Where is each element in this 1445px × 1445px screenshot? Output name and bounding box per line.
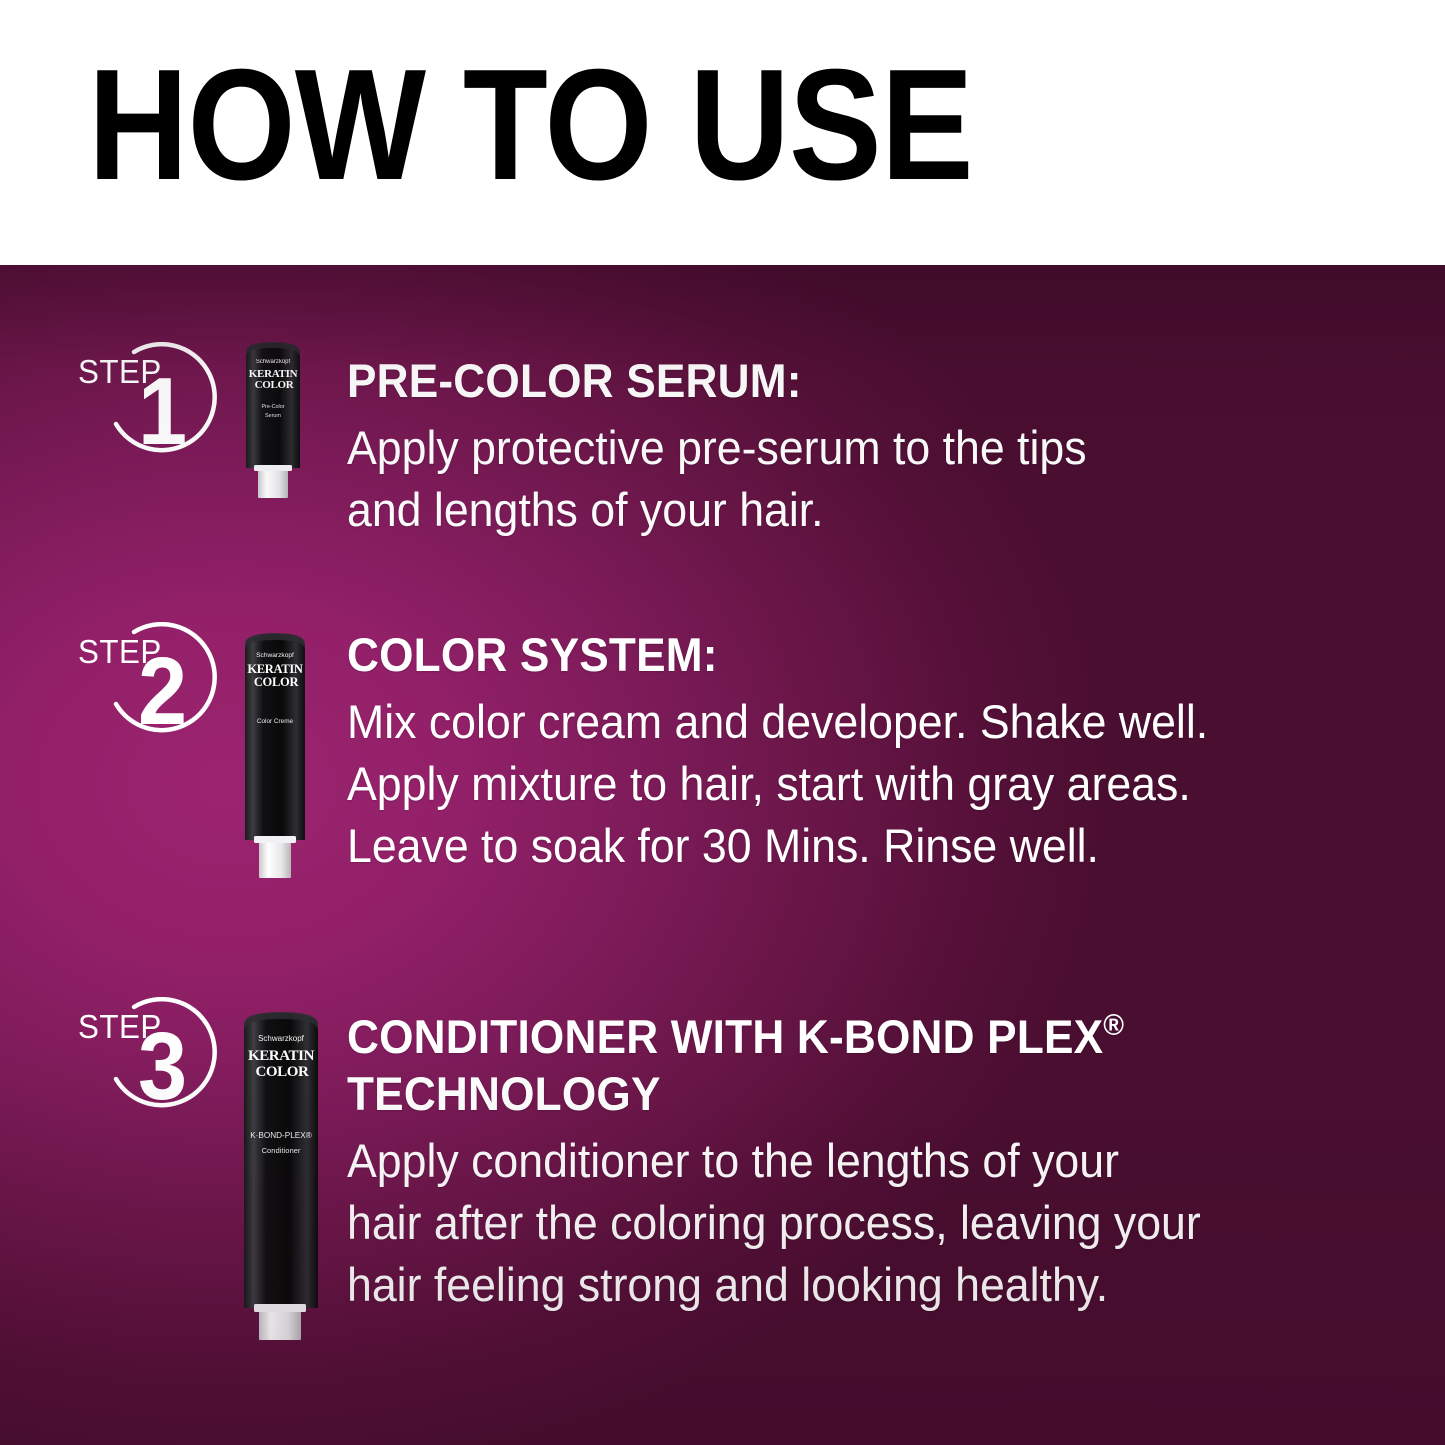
step-body-line: Mix color cream and developer. Shake wel… xyxy=(347,691,1354,753)
svg-text:Color Creme: Color Creme xyxy=(257,718,294,725)
svg-text:Schwarzkopf: Schwarzkopf xyxy=(258,1034,305,1043)
svg-text:Schwarzkopf: Schwarzkopf xyxy=(256,652,294,659)
step-text-2: COLOR SYSTEM: Mix color cream and develo… xyxy=(347,626,1407,877)
step-badge-1: STEP 1 xyxy=(78,340,218,480)
step-heading-2: COLOR SYSTEM: xyxy=(347,626,1343,683)
step-body-1: Apply protective pre-serum to the tips a… xyxy=(347,417,1354,541)
step-badge-2: STEP 2 xyxy=(78,620,218,760)
step-body-line: Apply conditioner to the lengths of your xyxy=(347,1130,1354,1192)
svg-text:KERATIN: KERATIN xyxy=(248,1048,315,1064)
svg-text:COLOR: COLOR xyxy=(254,675,300,689)
step-heading-3-line-2: TECHNOLOGY xyxy=(347,1067,661,1120)
header-band: HOW TO USE xyxy=(0,0,1445,265)
step-body-line: Apply protective pre-serum to the tips xyxy=(347,417,1354,479)
step-body-line: and lengths of your hair. xyxy=(347,479,1354,541)
svg-text:COLOR: COLOR xyxy=(255,1064,309,1080)
step-body-line: Apply mixture to hair, start with gray a… xyxy=(347,753,1354,815)
step-text-1: PRE-COLOR SERUM: Apply protective pre-se… xyxy=(347,352,1407,541)
svg-text:Pre-Color: Pre-Color xyxy=(261,404,284,410)
step-heading-1: PRE-COLOR SERUM: xyxy=(347,352,1343,409)
svg-text:KERATIN: KERATIN xyxy=(247,662,303,676)
how-to-use-graphic: HOW TO USE STEP 1 xyxy=(0,0,1445,1445)
registered-mark-icon: ® xyxy=(1103,1009,1124,1042)
step-body-line: Leave to soak for 30 Mins. Rinse well. xyxy=(347,815,1354,877)
svg-text:Schwarzkopf: Schwarzkopf xyxy=(256,359,291,365)
svg-text:Conditioner: Conditioner xyxy=(262,1146,301,1155)
svg-text:COLOR: COLOR xyxy=(255,379,295,391)
product-tube-conditioner: Schwarzkopf KERATIN COLOR K·BOND-PLEX® C… xyxy=(236,1008,326,1348)
product-tube-color-creme: Schwarzkopf KERATIN COLOR Color Creme xyxy=(238,630,312,885)
svg-text:K·BOND-PLEX®: K·BOND-PLEX® xyxy=(250,1131,312,1140)
step-number-1: 1 xyxy=(138,364,187,460)
step-number-3: 3 xyxy=(138,1019,187,1115)
step-body-line: hair feeling strong and looking healthy. xyxy=(347,1254,1354,1316)
step-heading-3: CONDITIONER WITH K-BOND PLEX® TECHNOLOGY xyxy=(347,997,1343,1122)
step-body-2: Mix color cream and developer. Shake wel… xyxy=(347,691,1354,877)
step-body-line: hair after the coloring process, leaving… xyxy=(347,1192,1354,1254)
page-title: HOW TO USE xyxy=(88,46,973,204)
steps-stage: STEP 1 xyxy=(0,265,1445,1445)
step-text-3: CONDITIONER WITH K-BOND PLEX® TECHNOLOGY… xyxy=(347,997,1407,1316)
svg-text:Serum: Serum xyxy=(265,413,281,419)
step-heading-3-line-1: CONDITIONER WITH K-BOND PLEX xyxy=(347,1010,1103,1063)
step-badge-3: STEP 3 xyxy=(78,995,218,1135)
step-body-3: Apply conditioner to the lengths of your… xyxy=(347,1130,1354,1316)
product-tube-pre-color-serum: Schwarzkopf KERATIN COLOR Pre-Color Seru… xyxy=(240,340,306,502)
step-number-2: 2 xyxy=(138,644,187,740)
